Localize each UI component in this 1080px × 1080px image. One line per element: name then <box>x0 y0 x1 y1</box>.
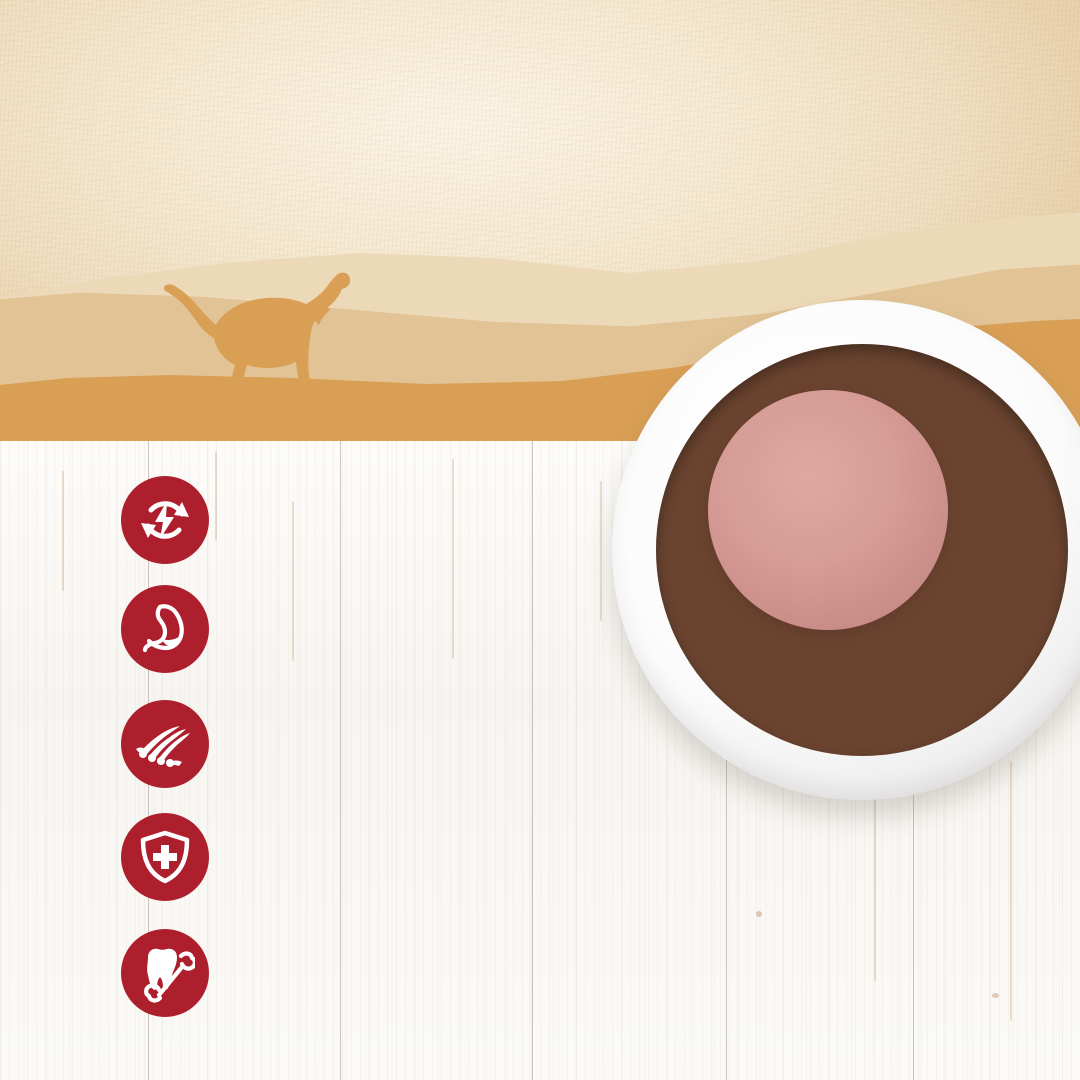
feature-row-healthy-digestion[interactable] <box>121 585 237 673</box>
feature-row-immune-health[interactable] <box>121 813 237 901</box>
shield-cross-icon <box>121 813 209 901</box>
feature-row-strong-teeth-bones[interactable] <box>121 929 237 1017</box>
page-title <box>0 48 1080 62</box>
tooth-bone-icon <box>121 929 209 1017</box>
feature-list <box>0 441 1080 1080</box>
stomach-icon <box>121 585 209 673</box>
feature-row-optimal-energy[interactable] <box>121 476 237 564</box>
feature-row-healthy-skin-coat[interactable] <box>121 700 237 788</box>
energy-refresh-bolt-icon <box>121 476 209 564</box>
dog-silhouette-icon <box>150 262 380 402</box>
infographic-root <box>0 0 1080 1080</box>
hair-follicles-icon <box>121 700 209 788</box>
